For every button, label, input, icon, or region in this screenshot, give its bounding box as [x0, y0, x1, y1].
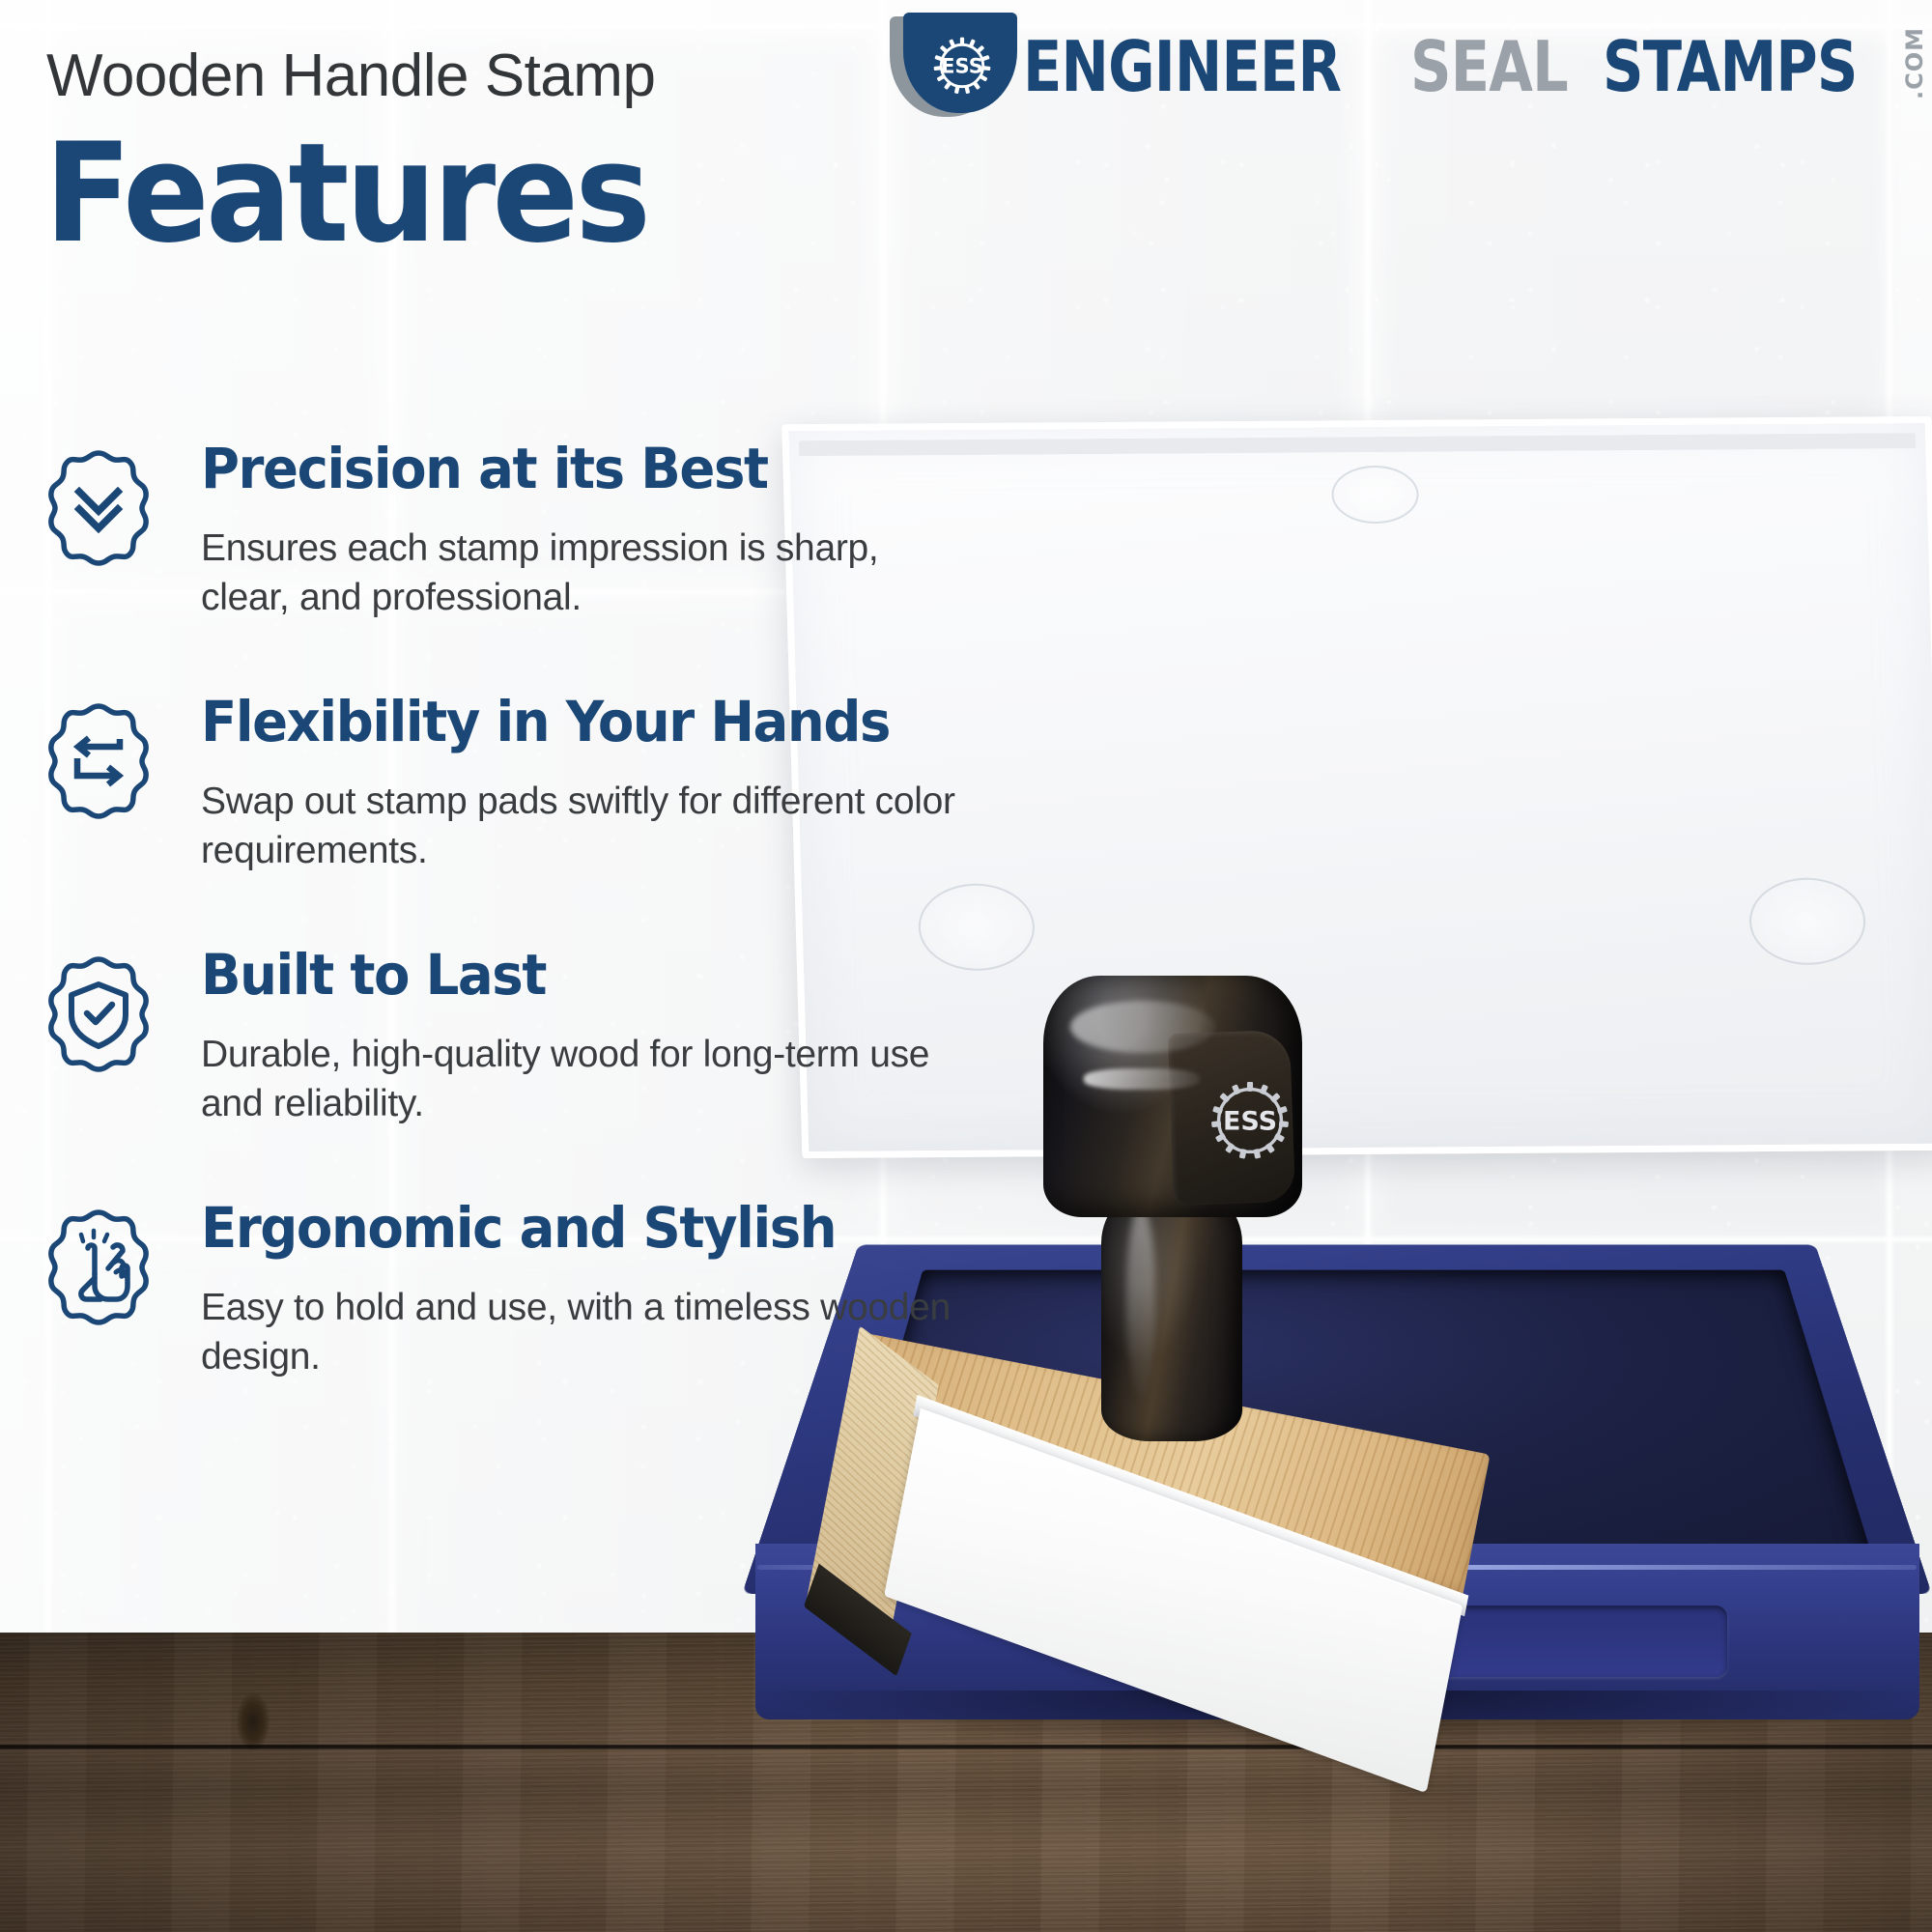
feature-item-flexibility: Flexibility in Your Hands Swap out stamp… [0, 693, 1005, 946]
feature-title: Ergonomic and Stylish [201, 1199, 956, 1258]
feature-item-durability: Built to Last Durable, high-quality wood… [0, 946, 1005, 1199]
logo-word-engineer: ENGINEER [1023, 32, 1341, 101]
logo-word-stamps: STAMPS [1603, 32, 1858, 101]
shield-check-badge-icon [41, 952, 156, 1077]
feature-item-ergonomics: Ergonomic and Stylish Easy to hold and u… [0, 1199, 1005, 1452]
page-subtitle: Wooden Handle Stamp [46, 46, 655, 106]
features-list: Precision at its Best Ensures each stamp… [0, 440, 1005, 1452]
feature-title: Precision at its Best [201, 440, 956, 498]
feature-title: Flexibility in Your Hands [201, 693, 956, 752]
logo-wordmark: ENGINEER SEAL STAMPS .COM [1023, 27, 1928, 105]
swap-arrows-badge-icon [41, 698, 156, 824]
double-chevron-down-badge-icon [41, 445, 156, 571]
feature-description: Swap out stamp pads swiftly for differen… [201, 777, 974, 876]
feature-description: Durable, high-quality wood for long-term… [201, 1030, 974, 1129]
feature-description: Easy to hold and use, with a timeless wo… [201, 1283, 974, 1382]
brand-logo[interactable]: ESS ENGINEER SEAL STAMPS .COM [890, 14, 1928, 120]
logo-word-seal: SEAL [1410, 32, 1568, 101]
stamp-handle: ESS [1026, 976, 1316, 1430]
feature-item-precision: Precision at its Best Ensures each stamp… [0, 440, 1005, 693]
tapping-hand-badge-icon [41, 1205, 156, 1330]
handle-ess-text: ESS [1223, 1107, 1277, 1137]
feature-title: Built to Last [201, 946, 956, 1005]
logo-tld: .COM [1901, 27, 1928, 99]
handle-ess-gear-icon: ESS [1198, 1068, 1302, 1173]
page-title: Features [44, 126, 647, 263]
logo-mark-text: ESS [941, 55, 983, 78]
header: Wooden Handle Stamp Features [0, 0, 1932, 309]
ess-shield-icon: ESS [890, 13, 1017, 121]
feature-description: Ensures each stamp impression is sharp, … [201, 524, 974, 623]
